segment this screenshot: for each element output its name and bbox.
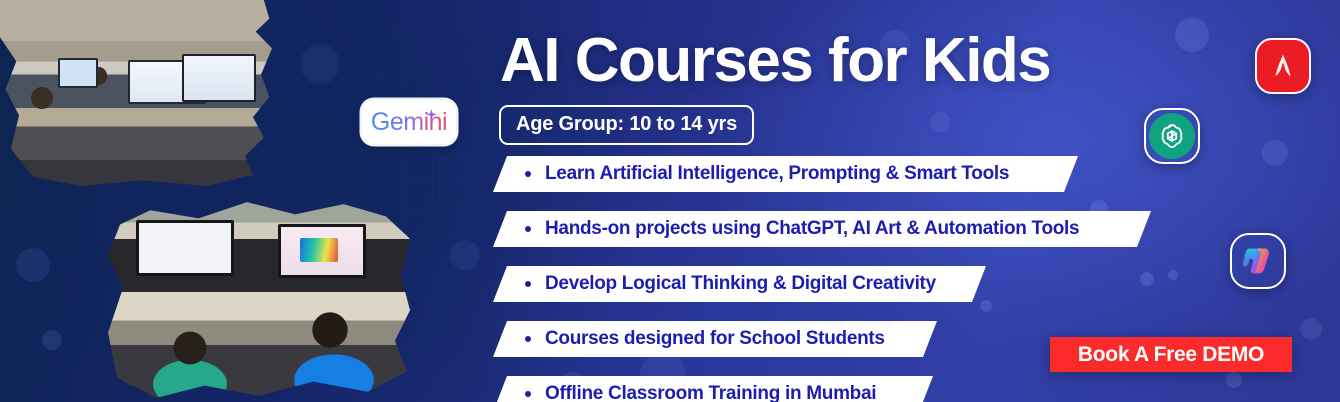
sparkle-icon — [426, 109, 437, 120]
microsoft-copilot-logo-tile — [1230, 233, 1286, 289]
bokeh-dot — [1175, 18, 1209, 52]
bullet-dot-icon — [525, 391, 531, 397]
bullet-pill: Offline Classroom Training in Mumbai — [493, 376, 933, 402]
book-free-demo-button[interactable]: Book A Free DEMO — [1050, 337, 1292, 372]
chatgpt-logo-circle — [1149, 113, 1195, 159]
gemini-logo-badge: Gemini — [362, 100, 456, 144]
bullet-dot-icon — [525, 226, 531, 232]
chatgpt-logo-tile — [1144, 108, 1200, 164]
age-group-badge: Age Group: 10 to 14 yrs — [499, 105, 754, 145]
bokeh-dot — [300, 44, 340, 84]
bullet-text: Learn Artificial Intelligence, Prompting… — [545, 163, 1009, 185]
list-item: Offline Classroom Training in Mumbai — [0, 376, 1340, 402]
list-item: Hands-on projects using ChatGPT, AI Art … — [0, 211, 1340, 255]
bullet-pill: Learn Artificial Intelligence, Prompting… — [493, 156, 1078, 192]
list-item: Develop Logical Thinking & Digital Creat… — [0, 266, 1340, 310]
bokeh-dot — [930, 112, 950, 132]
bullet-dot-icon — [525, 171, 531, 177]
bullet-pill: Develop Logical Thinking & Digital Creat… — [493, 266, 986, 302]
bullet-dot-icon — [525, 281, 531, 287]
monitor-screen — [182, 54, 256, 102]
list-item: Learn Artificial Intelligence, Prompting… — [0, 156, 1340, 200]
page-title: AI Courses for Kids — [500, 28, 1050, 93]
adobe-firefly-logo-tile — [1255, 38, 1311, 94]
bullet-pill: Courses designed for School Students — [493, 321, 937, 357]
ai-courses-banner: Gemini AI Courses for Kids Age Group: 10… — [0, 0, 1340, 402]
bullet-text: Develop Logical Thinking & Digital Creat… — [545, 273, 936, 295]
adobe-firefly-logo-icon — [1268, 51, 1298, 81]
monitor-screen — [58, 58, 98, 88]
bullet-text: Offline Classroom Training in Mumbai — [545, 383, 876, 402]
bullet-dot-icon — [525, 336, 531, 342]
bullet-text: Hands-on projects using ChatGPT, AI Art … — [545, 218, 1079, 240]
bullet-text: Courses designed for School Students — [545, 328, 885, 350]
microsoft-copilot-logo-icon — [1238, 241, 1278, 281]
bullet-pill: Hands-on projects using ChatGPT, AI Art … — [493, 211, 1151, 247]
chatgpt-logo-icon — [1157, 121, 1187, 151]
